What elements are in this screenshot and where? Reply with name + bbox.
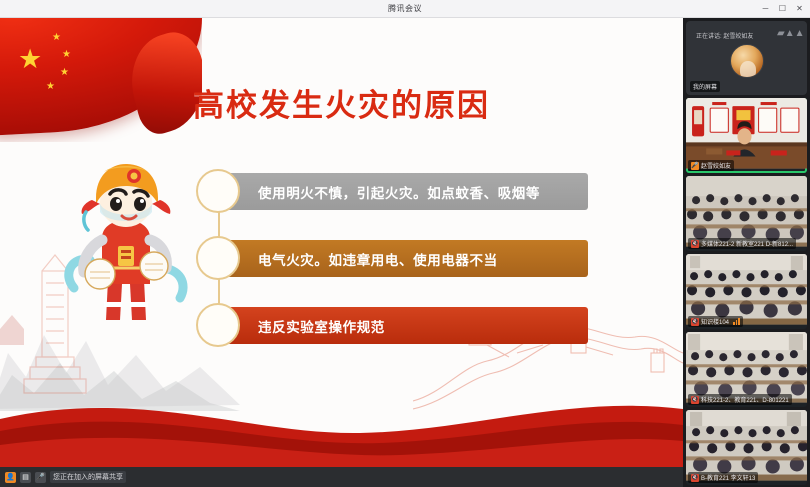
bullet-bar: 电气火灾。如违章用电、使用电器不当 xyxy=(218,240,588,277)
monitor-icon[interactable]: ▤ xyxy=(20,472,31,483)
bullet-bar: 使用明火不慎，引起火灾。如点蚊香、吸烟等 xyxy=(218,173,588,210)
video-tile[interactable]: 🔇 科技221-2、教育221、D-801221 xyxy=(686,332,807,407)
video-tile-label: 🔇 知识楼104 xyxy=(688,316,743,327)
participant-sidebar[interactable]: 正在讲话: 赵雪姣如友 ▰▲▲ 我的屏幕 xyxy=(683,18,810,487)
bullet-list: 使用明火不慎，引起火灾。如点蚊香、吸烟等 电气火灾。如违章用电、使用电器不当 违… xyxy=(196,168,588,369)
shared-screen-stage[interactable]: ★ ★ ★ ★ ★ xyxy=(0,18,683,487)
title-bar: 腾讯会议 ─ ☐ ✕ xyxy=(0,0,810,18)
window-body: ★ ★ ★ ★ ★ xyxy=(0,18,810,487)
active-speaker-caption: 正在讲话: 赵雪姣如友 xyxy=(696,31,753,40)
close-icon[interactable]: ✕ xyxy=(791,0,808,18)
participant-name: 知识楼104 xyxy=(701,317,729,326)
video-tile[interactable]: 🔇 多媒体221-2 新教室221 D-新812... xyxy=(686,176,807,251)
video-tile[interactable]: 🔇 知识楼104 xyxy=(686,254,807,329)
video-tile-label: 🔇 多媒体221-2 新教室221 D-新812... xyxy=(688,238,796,249)
bullet-item[interactable]: 违反实验室操作规范 xyxy=(196,302,588,348)
participant-name: B-教育221 李文轩13 xyxy=(701,473,755,482)
active-speaker-card[interactable]: 正在讲话: 赵雪姣如友 ▰▲▲ 我的屏幕 xyxy=(686,21,807,95)
video-tile-label: 🔇 科技221-2、教育221、D-801221 xyxy=(688,394,792,405)
bullet-text: 违反实验室操作规范 xyxy=(258,316,385,336)
speaker-tag: 我的屏幕 xyxy=(690,81,720,92)
firefighter-mascot-icon xyxy=(56,156,194,324)
bullet-marker xyxy=(196,169,240,213)
microphone-muted-icon: 🔇 xyxy=(691,474,699,482)
participant-name: 赵雪姣如友 xyxy=(701,161,731,170)
microphone-muted-icon: 🔇 xyxy=(691,240,699,248)
bullet-item[interactable]: 使用明火不慎，引起火灾。如点蚊香、吸烟等 xyxy=(196,168,588,214)
video-tile[interactable]: 🎤 赵雪姣如友 xyxy=(686,98,807,173)
video-tile-label: 🔇 B-教育221 李文轩13 xyxy=(688,472,758,483)
video-feed xyxy=(686,410,807,481)
video-feed xyxy=(686,98,807,169)
microphone-muted-icon: 🔇 xyxy=(691,396,699,404)
bullet-item[interactable]: 电气火灾。如违章用电、使用电器不当 xyxy=(196,235,588,281)
volume-level-icon xyxy=(733,318,740,325)
maximize-icon[interactable]: ☐ xyxy=(774,0,791,18)
tencent-meeting-window: 腾讯会议 ─ ☐ ✕ ★ ★ ★ ★ ★ xyxy=(0,0,810,487)
microphone-muted-icon: 🔇 xyxy=(691,318,699,326)
video-feed xyxy=(686,176,807,247)
bullet-marker xyxy=(196,236,240,280)
bullet-marker xyxy=(196,303,240,347)
person-icon[interactable]: 👤 xyxy=(5,472,16,483)
participant-name: 科技221-2、教育221、D-801221 xyxy=(701,395,789,404)
bullet-text: 使用明火不慎，引起火灾。如点蚊香、吸烟等 xyxy=(258,182,540,202)
red-wave-decoration xyxy=(0,375,683,467)
video-tile[interactable]: 🔇 B-教育221 李文轩13 xyxy=(686,410,807,485)
share-status-label: 您正在加入的屏幕共享 xyxy=(50,471,126,483)
sound-wave-icon: ▰▲▲ xyxy=(777,29,797,41)
video-feed xyxy=(686,332,807,403)
presentation-slide: ★ ★ ★ ★ ★ xyxy=(0,18,683,467)
bullet-text: 电气火灾。如违章用电、使用电器不当 xyxy=(258,249,498,269)
microphone-icon[interactable]: 🎤 xyxy=(35,472,46,483)
video-tile-label: 🎤 赵雪姣如友 xyxy=(688,160,734,171)
participant-name: 多媒体221-2 新教室221 D-新812... xyxy=(701,239,793,248)
microphone-on-icon: 🎤 xyxy=(691,162,699,170)
slide-title: 高校发生火灾的原因 xyxy=(0,80,683,125)
avatar xyxy=(730,44,764,78)
window-title: 腾讯会议 xyxy=(388,3,422,14)
bullet-bar: 违反实验室操作规范 xyxy=(218,307,588,344)
share-status-bar: 👤 ▤ 🎤 您正在加入的屏幕共享 xyxy=(0,467,683,487)
minimize-icon[interactable]: ─ xyxy=(757,0,774,18)
video-feed xyxy=(686,254,807,325)
window-controls: ─ ☐ ✕ xyxy=(757,0,808,18)
